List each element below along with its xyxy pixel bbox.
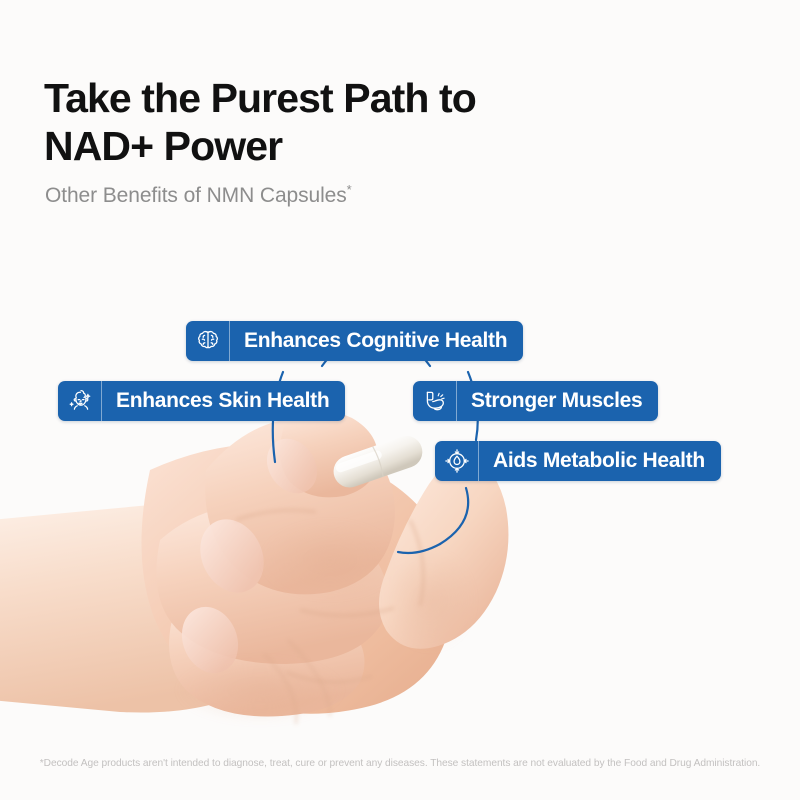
hand-shading: [175, 520, 476, 724]
folded-fingers-lower: [169, 592, 364, 717]
wrist-creases: [264, 640, 330, 724]
index-fingertip: [280, 410, 378, 497]
brain-icon: [186, 321, 230, 361]
middle-finger: [156, 505, 388, 664]
fingernail-ring: [172, 598, 248, 681]
index-finger: [205, 418, 395, 594]
flexed-bicep-icon: [413, 381, 457, 421]
page-subtitle-text: Other Benefits of NMN Capsules: [45, 184, 347, 207]
page-title: Take the Purest Path to NAD+ Power: [44, 74, 604, 170]
benefit-pill-cognitive[interactable]: Enhances Cognitive Health: [186, 321, 523, 361]
legal-disclaimer: *Decode Age products aren't intended to …: [0, 757, 800, 771]
benefit-pill-skin-label: Enhances Skin Health: [102, 381, 345, 421]
nmn-capsule: [329, 432, 426, 492]
subtitle-asterisk: *: [347, 182, 352, 197]
hand-creases: [236, 510, 423, 682]
benefit-pill-skin[interactable]: Enhances Skin Health: [58, 381, 345, 421]
benefit-pill-muscles[interactable]: Stronger Muscles: [413, 381, 658, 421]
fingernail-index: [257, 429, 328, 503]
benefit-pill-metabolic-label: Aids Metabolic Health: [479, 441, 721, 481]
benefit-pill-metabolic[interactable]: Aids Metabolic Health: [435, 441, 721, 481]
fingernail-middle: [188, 509, 275, 604]
forearm: [0, 503, 300, 712]
palm: [141, 444, 453, 714]
arc-metabolic: [440, 488, 468, 544]
flame-target-icon: [435, 441, 479, 481]
benefit-pill-cognitive-label: Enhances Cognitive Health: [230, 321, 523, 361]
page-subtitle: Other Benefits of NMN Capsules*: [45, 182, 352, 210]
face-skincare-icon: [58, 381, 102, 421]
promo-graphic: Take the Purest Path to NAD+ Power Other…: [0, 0, 800, 800]
thumb: [379, 452, 508, 649]
benefit-pill-muscles-label: Stronger Muscles: [457, 381, 658, 421]
arc-lower: [398, 544, 440, 553]
